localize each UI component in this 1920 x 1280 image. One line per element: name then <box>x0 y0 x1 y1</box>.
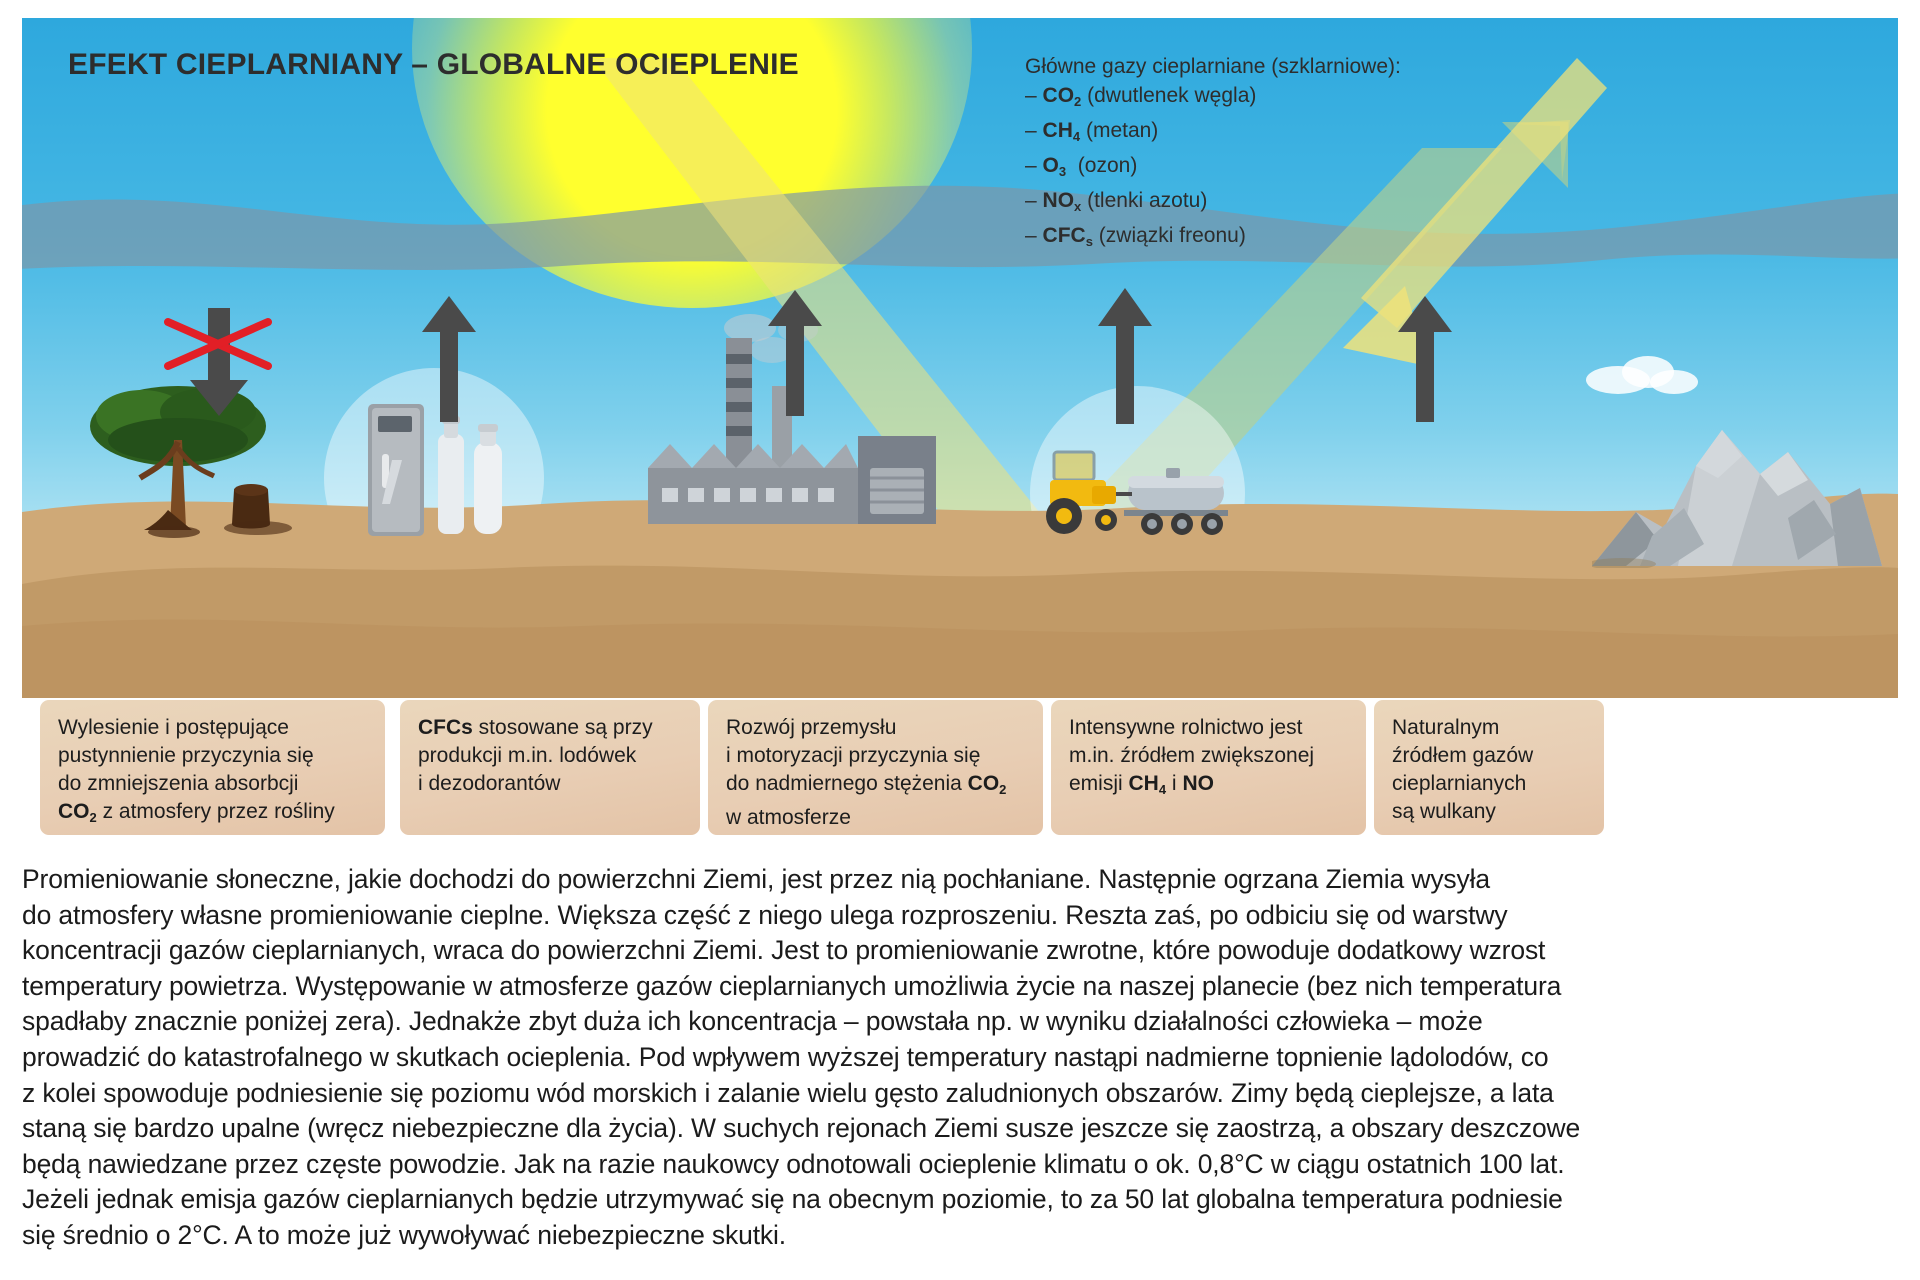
caption-line: CO2 z atmosfery przez rośliny <box>58 798 367 832</box>
caption-box-volcanoes: Naturalnym źródłem gazów cieplarnianych … <box>1374 700 1604 835</box>
caption-line: cieplarnianych <box>1392 770 1586 798</box>
caption-line: emisji CH4 i NO <box>1069 770 1348 804</box>
volcano-mountain-icon <box>1592 408 1882 568</box>
cloud-icon <box>1582 348 1702 398</box>
gas-item-co2: – CO2 (dwutlenek węgla) <box>1025 81 1401 116</box>
caption-box-deforestation: Wylesienie i postępujące pustynnienie pr… <box>40 700 385 835</box>
gas-item-o3: – O3 (ozon) <box>1025 151 1401 186</box>
body-line: Jeżeli jednak emisja gazów cieplarnianyc… <box>22 1182 1902 1218</box>
body-line: do atmosfery własne promieniowanie ciepl… <box>22 898 1902 934</box>
caption-line: Wylesienie i postępujące <box>58 714 367 742</box>
gas-item-ch4: – CH4 (metan) <box>1025 116 1401 151</box>
page-title: EFEKT CIEPLARNIANY – GLOBALNE OCIEPLENIE <box>68 48 799 82</box>
body-line: będą nawiedzane przez częste powodzie. J… <box>22 1147 1902 1183</box>
caption-line: i motoryzacji przyczynia się <box>726 742 1025 770</box>
caption-line: pustynnienie przyczynia się <box>58 742 367 770</box>
tractor-and-tanker-icon <box>1040 428 1240 548</box>
caption-line: są wulkany <box>1392 798 1586 826</box>
body-line: koncentracji gazów cieplarnianych, wraca… <box>22 933 1902 969</box>
caption-line: produkcji m.in. lodówek <box>418 742 682 770</box>
caption-line: w atmosferze <box>726 804 1025 832</box>
caption-line: i dezodorantów <box>418 770 682 798</box>
caption-line: m.in. źródłem zwiększonej <box>1069 742 1348 770</box>
caption-box-cfcs: CFCs stosowane są przy produkcji m.in. l… <box>400 700 700 835</box>
caption-line: Naturalnym <box>1392 714 1586 742</box>
illustration-scene: EFEKT CIEPLARNIANY – GLOBALNE OCIEPLENIE… <box>22 18 1898 698</box>
emission-arrow-industry <box>764 290 826 416</box>
gas-item-nox: – NOx (tlenki azotu) <box>1025 186 1401 221</box>
blocked-absorption-arrow <box>152 308 282 418</box>
gas-item-cfcs: – CFCs (związki freonu) <box>1025 221 1401 256</box>
caption-box-industry: Rozwój przemysłu i motoryzacji przyczyni… <box>708 700 1043 835</box>
body-line: prowadzić do katastrofalnego w skutkach … <box>22 1040 1902 1076</box>
caption-box-agriculture: Intensywne rolnictwo jest m.in. źródłem … <box>1051 700 1366 835</box>
caption-line: Intensywne rolnictwo jest <box>1069 714 1348 742</box>
caption-line: do zmniejszenia absorbcji <box>58 770 367 798</box>
body-line: spadłaby znacznie poniżej zera). Jednakż… <box>22 1004 1902 1040</box>
emission-arrow-agriculture <box>1094 288 1156 424</box>
body-line: staną się bardzo upalne (wręcz niebezpie… <box>22 1111 1902 1147</box>
greenhouse-gas-list: Główne gazy cieplarniane (szklarniowe): … <box>1025 52 1401 256</box>
greenhouse-gas-layer <box>22 166 1898 286</box>
gas-list-heading: Główne gazy cieplarniane (szklarniowe): <box>1025 52 1401 81</box>
emission-arrow-cfcs <box>418 296 480 422</box>
body-line: się średnio o 2°C. A to może już wywoływ… <box>22 1218 1902 1254</box>
caption-line: do nadmiernego stężenia CO2 <box>726 770 1025 804</box>
caption-line: źródłem gazów <box>1392 742 1586 770</box>
body-paragraph: Promieniowanie słoneczne, jakie dochodzi… <box>22 862 1902 1254</box>
body-line: temperatury powietrza. Występowanie w at… <box>22 969 1902 1005</box>
body-line: z kolei spowoduje podniesienie się pozio… <box>22 1076 1902 1112</box>
caption-line: Rozwój przemysłu <box>726 714 1025 742</box>
caption-line: CFCs stosowane są przy <box>418 714 682 742</box>
body-line: Promieniowanie słoneczne, jakie dochodzi… <box>22 862 1902 898</box>
infographic-poster: EFEKT CIEPLARNIANY – GLOBALNE OCIEPLENIE… <box>0 0 1920 1280</box>
emission-arrow-volcano <box>1394 296 1456 422</box>
